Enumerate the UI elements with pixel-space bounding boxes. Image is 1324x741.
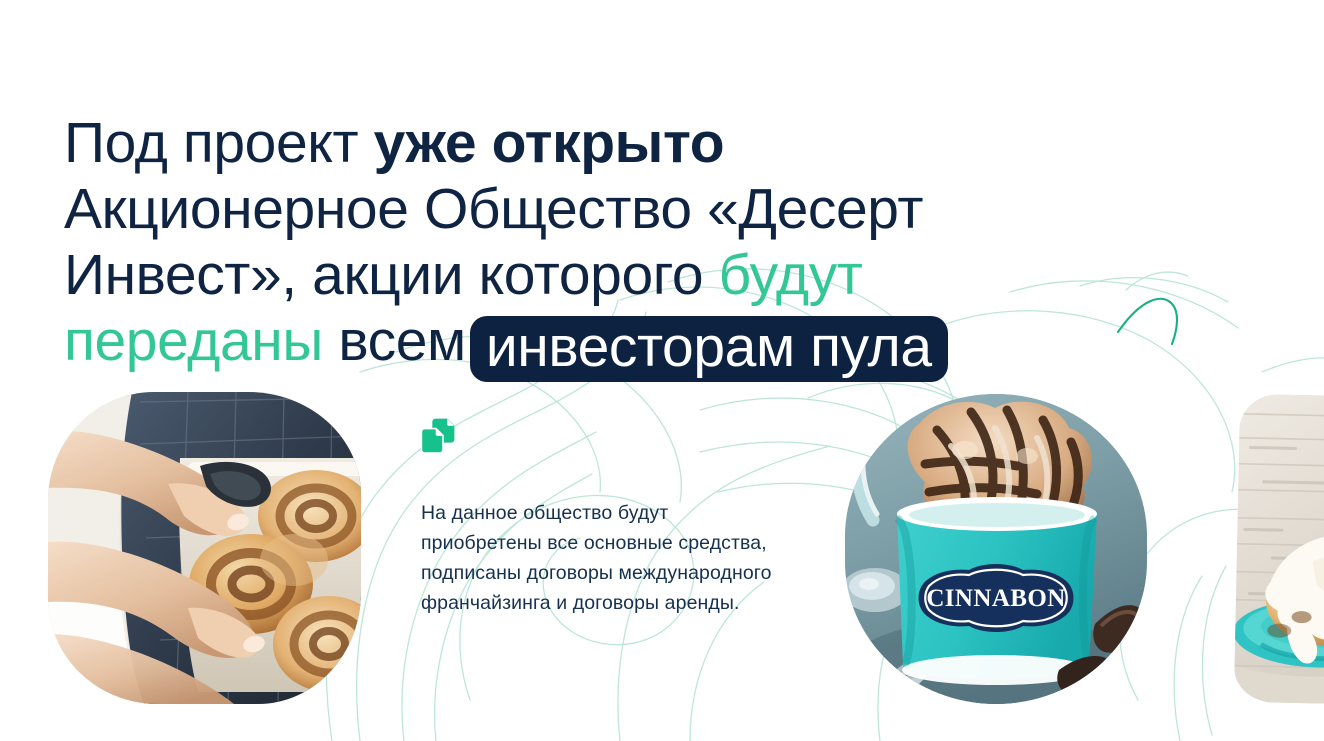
headline: Под проект уже открыто Акционерное Общес… <box>64 110 1224 382</box>
headline-line-4: переданы всеминвесторам пула <box>64 308 1224 382</box>
headline-line-3: Инвест», акции которого будут <box>64 242 1224 308</box>
info-paragraph: На данное общество будут приобретены все… <box>421 498 781 618</box>
headline-line3-dark: Инвест», акции которого <box>64 243 719 307</box>
headline-line1-bold: уже открыто <box>374 111 725 175</box>
headline-highlight-chip: инвесторам пула <box>470 316 948 382</box>
headline-line-1: Под проект уже открыто <box>64 110 1224 176</box>
headline-line4-green: переданы <box>64 309 323 373</box>
headline-line1-regular: Под проект <box>64 111 374 175</box>
info-block: На данное общество будут приобретены все… <box>421 418 781 618</box>
photo-cinnabon-cup: CINNABON <box>845 394 1147 704</box>
headline-line-2: Акционерное Общество «Десерт <box>64 176 1224 242</box>
headline-line3-green: будут <box>719 243 863 307</box>
svg-text:CINNABON: CINNABON <box>926 585 1065 612</box>
photo-glazed-bun <box>1234 394 1324 704</box>
headline-line4-dark: всем <box>323 309 466 373</box>
photo-cinnamon-rolls-in-pan <box>48 392 361 704</box>
copy-documents-icon <box>421 418 781 454</box>
slide-root: Под проект уже открыто Акционерное Общес… <box>0 0 1324 741</box>
